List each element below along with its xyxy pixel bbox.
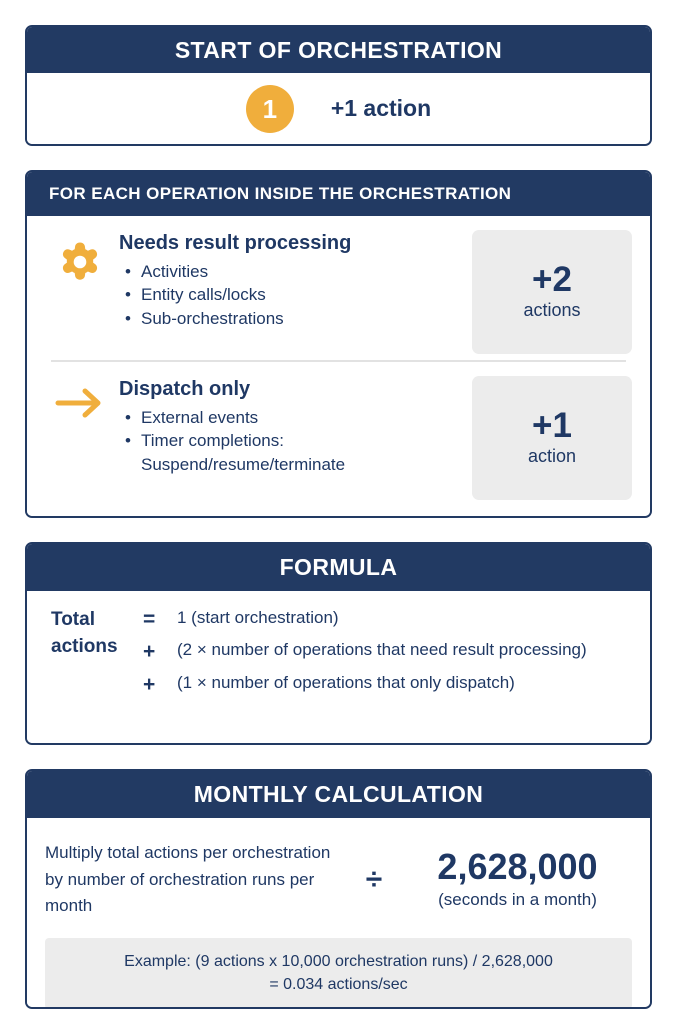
formula-row: = 1 (start orchestration) xyxy=(143,607,630,633)
formula-operator: + xyxy=(143,639,177,665)
divide-symbol: ÷ xyxy=(345,863,403,897)
formula-rows: = 1 (start orchestration) + (2 × number … xyxy=(143,607,630,743)
seconds-in-month-unit: (seconds in a month) xyxy=(403,887,632,913)
formula-label-line2: actions xyxy=(51,634,143,661)
example-box: Example: (9 actions x 10,000 orchestrati… xyxy=(45,938,632,1009)
operation-title: Dispatch only xyxy=(119,378,472,401)
start-of-orchestration-card: START OF ORCHESTRATION 1 +1 action xyxy=(25,25,652,146)
operation-bullet-list: Activities Entity calls/locks Sub-orches… xyxy=(119,260,472,330)
formula-card-body: Total actions = 1 (start orchestration) … xyxy=(27,591,650,743)
formula-card: FORMULA Total actions = 1 (start orchest… xyxy=(25,542,652,745)
list-item: Activities xyxy=(119,260,472,283)
monthly-calculation-card: MONTHLY CALCULATION Multiply total actio… xyxy=(25,769,652,1009)
formula-card-header: FORMULA xyxy=(27,544,650,591)
formula-operator: + xyxy=(143,672,177,698)
example-line-2: = 0.034 actions/sec xyxy=(55,973,622,996)
monthly-calculation-row: Multiply total actions per orchestration… xyxy=(45,834,632,926)
operation-content-result-processing: Needs result processing Activities Entit… xyxy=(119,230,472,330)
step-number-badge: 1 xyxy=(246,85,294,133)
monthly-description: Multiply total actions per orchestration… xyxy=(45,840,345,919)
formula-text: 1 (start orchestration) xyxy=(177,607,339,629)
formula-row: + (1 × number of operations that only di… xyxy=(143,672,630,698)
operation-content-dispatch-only: Dispatch only External events Timer comp… xyxy=(119,376,472,476)
operations-card-header: FOR EACH OPERATION INSIDE THE ORCHESTRAT… xyxy=(27,172,650,216)
list-item: Timer completions: Suspend/resume/termin… xyxy=(119,429,472,476)
operation-title: Needs result processing xyxy=(119,232,472,255)
operation-row-dispatch-only: Dispatch only External events Timer comp… xyxy=(41,362,636,506)
arrow-right-icon xyxy=(41,376,119,420)
action-count-badge: +1 action xyxy=(472,376,632,500)
list-item: Entity calls/locks xyxy=(119,283,472,306)
operations-card-body: Needs result processing Activities Entit… xyxy=(27,216,650,516)
operation-row-result-processing: Needs result processing Activities Entit… xyxy=(41,216,636,360)
start-card-body: 1 +1 action xyxy=(27,73,650,144)
formula-operator: = xyxy=(143,607,177,633)
action-count-unit: action xyxy=(528,445,576,468)
monthly-value-block: 2,628,000 (seconds in a month) xyxy=(403,847,632,912)
list-item: External events xyxy=(119,406,472,429)
monthly-card-header: MONTHLY CALCULATION xyxy=(27,771,650,818)
formula-text: (1 × number of operations that only disp… xyxy=(177,672,515,694)
list-item: Sub-orchestrations xyxy=(119,307,472,330)
infographic-page: START OF ORCHESTRATION 1 +1 action FOR E… xyxy=(0,0,677,1034)
formula-text: (2 × number of operations that need resu… xyxy=(177,639,587,661)
action-count-value: +2 xyxy=(532,262,572,299)
formula-row: + (2 × number of operations that need re… xyxy=(143,639,630,665)
start-action-label: +1 action xyxy=(331,95,431,122)
formula-label-line1: Total xyxy=(51,607,143,634)
gear-icon xyxy=(41,230,119,284)
for-each-operation-card: FOR EACH OPERATION INSIDE THE ORCHESTRAT… xyxy=(25,170,652,518)
monthly-card-body: Multiply total actions per orchestration… xyxy=(27,818,650,1007)
seconds-in-month-value: 2,628,000 xyxy=(403,847,632,887)
operation-bullet-list: External events Timer completions: Suspe… xyxy=(119,406,472,476)
action-count-badge: +2 actions xyxy=(472,230,632,354)
example-line-1: Example: (9 actions x 10,000 orchestrati… xyxy=(124,953,553,970)
formula-label: Total actions xyxy=(51,607,143,743)
action-count-unit: actions xyxy=(523,299,580,322)
start-card-header: START OF ORCHESTRATION xyxy=(27,27,650,73)
action-count-value: +1 xyxy=(532,408,572,445)
